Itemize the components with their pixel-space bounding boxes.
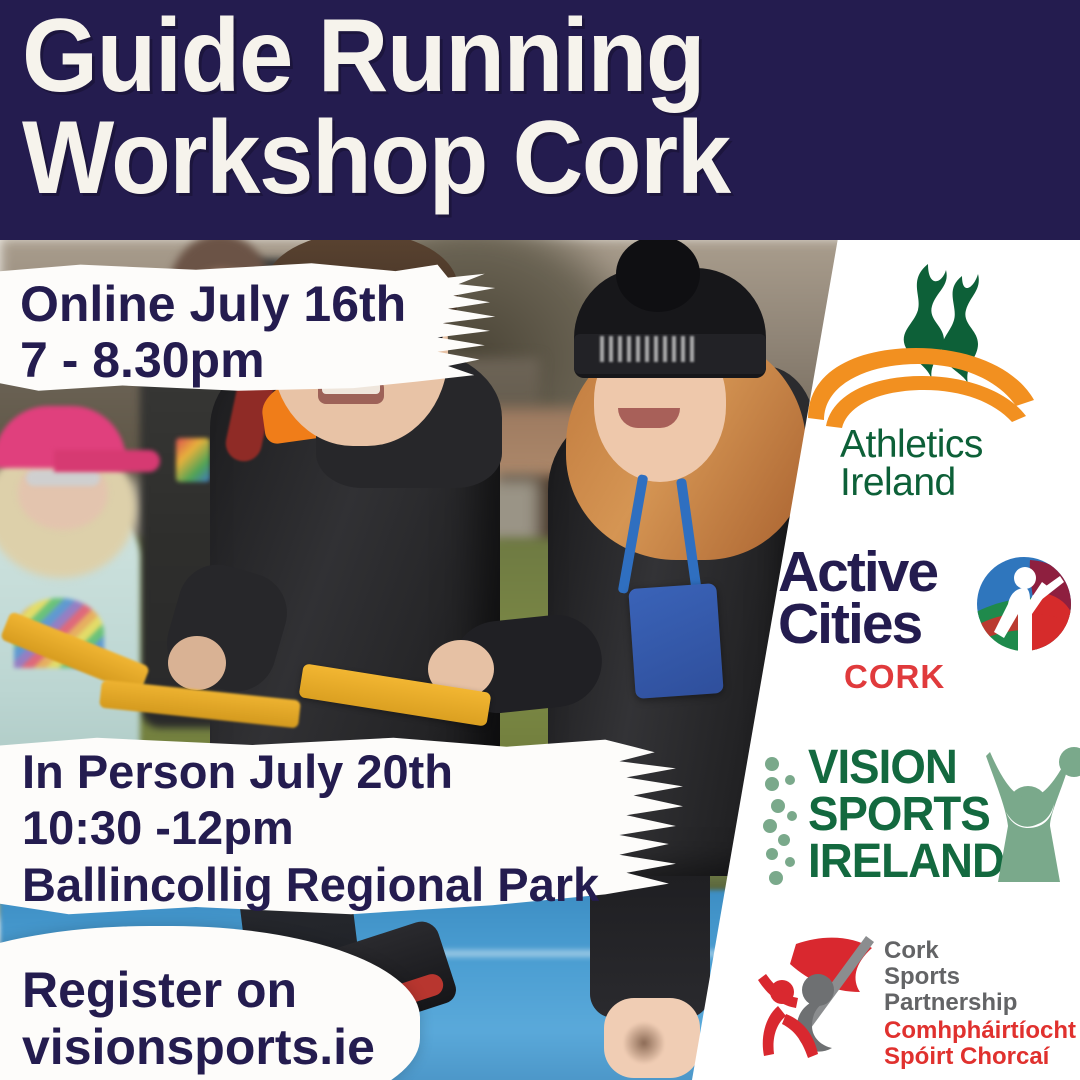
photo-guide-beanie-logo [600,336,696,362]
active-cities-cork-label: CORK [844,658,945,696]
csp-english-name: Cork Sports Partnership [884,938,1080,1016]
logo-vision-sports-ireland: VISION SPORTS IRELAND [760,740,1080,920]
vision-sports-wordmark: VISION SPORTS IRELAND [808,744,1004,885]
photo-girl-glasses [26,470,100,486]
register-callout-text[interactable]: Register on visionsports.ie [22,962,375,1076]
active-cities-emblem-icon [972,552,1076,656]
sponsor-logo-stack: Athletics Ireland Active Cities CORK [760,248,1080,1078]
photo-guide-id-badge [628,583,723,699]
athletics-ireland-track-icon [802,344,1038,430]
logo-active-cities-cork: Active Cities CORK [760,540,1080,730]
photo-girl-cap-brim [54,450,160,472]
photo-guide-tattoo [624,1020,664,1066]
vision-sports-figure-icon [976,742,1080,892]
csp-irish-name: Comhpháirtíocht Spóirt Chorcaí [884,1018,1080,1070]
cork-sports-partnership-text: Cork Sports Partnership Comhpháirtíocht … [884,938,1080,1080]
page-title: Guide Running Workshop Cork [22,6,1000,210]
cork-sports-partnership-flag-icon [756,930,884,1078]
photo-boy-fist [168,636,226,690]
online-session-text: Online July 16th 7 - 8.30pm [20,276,406,388]
athletics-ireland-wordmark: Athletics Ireland [840,426,983,502]
title-banner: Guide Running Workshop Cork [0,0,1080,240]
vision-sports-dots-icon [762,754,802,904]
active-cities-line-2: Cities [778,596,921,653]
photo-guide-beanie-pompom [616,238,700,312]
photo-adult-jacket-logo [176,438,210,482]
logo-athletics-ireland: Athletics Ireland [760,248,1080,508]
in-person-session-text: In Person July 20th 10:30 -12pm Ballinco… [22,744,599,913]
logo-cork-sports-partnership: Cork Sports Partnership Comhpháirtíocht … [760,920,1080,1080]
poster-canvas: Athletics Ireland Active Cities CORK [0,0,1080,1080]
